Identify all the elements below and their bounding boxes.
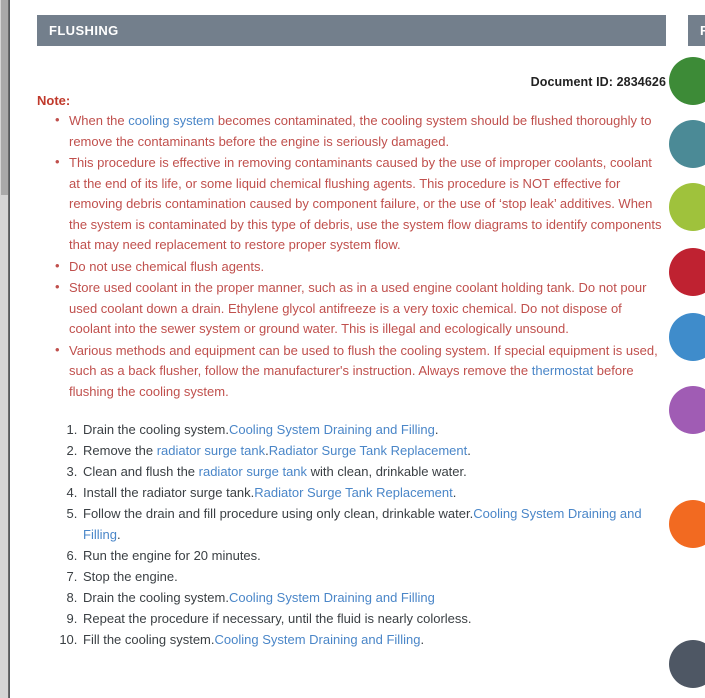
document-id: Document ID: 2834626 — [37, 75, 666, 89]
body-text: Drain the cooling system. — [83, 422, 229, 437]
section-header-next: F — [688, 15, 705, 46]
section-header-flushing: FLUSHING — [37, 15, 666, 46]
document-link[interactable]: Cooling System Draining and Filling — [229, 590, 435, 605]
body-text: Remove the — [83, 443, 157, 458]
rail-dot-purple[interactable] — [669, 386, 705, 434]
rail-dot-slate[interactable] — [669, 640, 705, 688]
procedure-step: Follow the drain and fill procedure usin… — [81, 504, 666, 545]
procedure-step: Run the engine for 20 minutes. — [81, 546, 666, 567]
document-link[interactable]: Radiator Surge Tank Replacement — [254, 485, 453, 500]
body-text: . — [453, 485, 457, 500]
body-text: . — [435, 422, 439, 437]
section-header-next-title: F — [700, 23, 705, 38]
rail-dot-green[interactable] — [669, 57, 705, 105]
body-text: Fill the cooling system. — [83, 632, 215, 647]
document-link[interactable]: Cooling System Draining and Filling — [229, 422, 435, 437]
note-list-item: This procedure is effective in removing … — [69, 153, 666, 256]
document-link[interactable]: thermostat — [532, 363, 593, 378]
procedure-step: Fill the cooling system.Cooling System D… — [81, 630, 666, 651]
body-text: Clean and flush the — [83, 464, 199, 479]
note-list-item: Various methods and equipment can be use… — [69, 341, 666, 403]
note-list-item: Do not use chemical flush agents. — [69, 257, 666, 278]
procedure-step: Stop the engine. — [81, 567, 666, 588]
body-text: When the — [69, 113, 128, 128]
body-text: . — [117, 527, 121, 542]
document-pane: FLUSHING F Document ID: 2834626 Note: Wh… — [10, 0, 705, 698]
body-text: Drain the cooling system. — [83, 590, 229, 605]
section-header-title: FLUSHING — [49, 23, 119, 38]
body-text: with clean, drinkable water. — [307, 464, 467, 479]
body-text: Stop the engine. — [83, 569, 178, 584]
procedure-step: Drain the cooling system.Cooling System … — [81, 588, 666, 609]
body-text: Repeat the procedure if necessary, until… — [83, 611, 472, 626]
body-text: . — [420, 632, 424, 647]
procedure-step: Repeat the procedure if necessary, until… — [81, 609, 666, 630]
procedure-step: Clean and flush the radiator surge tank … — [81, 462, 666, 483]
scrollbar-thumb[interactable] — [1, 0, 8, 195]
document-link[interactable]: Radiator Surge Tank Replacement — [269, 443, 468, 458]
body-text: Follow the drain and fill procedure usin… — [83, 506, 473, 521]
procedure-steps-list: Drain the cooling system.Cooling System … — [37, 420, 666, 650]
body-text: Do not use chemical flush agents. — [69, 259, 264, 274]
document-link[interactable]: radiator surge tank — [157, 443, 265, 458]
category-color-dots — [669, 0, 705, 698]
document-content: Document ID: 2834626 Note: When the cool… — [37, 50, 666, 651]
procedure-step: Drain the cooling system.Cooling System … — [81, 420, 666, 441]
body-text: Store used coolant in the proper manner,… — [69, 280, 646, 336]
note-label: Note: — [37, 93, 666, 108]
document-link[interactable]: cooling system — [128, 113, 214, 128]
note-list-item: When the cooling system becomes contamin… — [69, 111, 666, 152]
body-text: Install the radiator surge tank. — [83, 485, 254, 500]
procedure-step: Remove the radiator surge tank.Radiator … — [81, 441, 666, 462]
document-link[interactable]: radiator surge tank — [199, 464, 307, 479]
rail-dot-red[interactable] — [669, 248, 705, 296]
note-list-item: Store used coolant in the proper manner,… — [69, 278, 666, 340]
vertical-scrollbar[interactable] — [0, 0, 9, 698]
rail-dot-lime[interactable] — [669, 183, 705, 231]
procedure-step: Install the radiator surge tank.Radiator… — [81, 483, 666, 504]
body-text: . — [467, 443, 471, 458]
rail-dot-orange[interactable] — [669, 500, 705, 548]
body-text: Run the engine for 20 minutes. — [83, 548, 261, 563]
note-bullet-list: When the cooling system becomes contamin… — [37, 111, 666, 402]
rail-dot-blue[interactable] — [669, 313, 705, 361]
rail-dot-teal[interactable] — [669, 120, 705, 168]
document-link[interactable]: Cooling System Draining and Filling — [215, 632, 421, 647]
body-text: This procedure is effective in removing … — [69, 155, 662, 252]
